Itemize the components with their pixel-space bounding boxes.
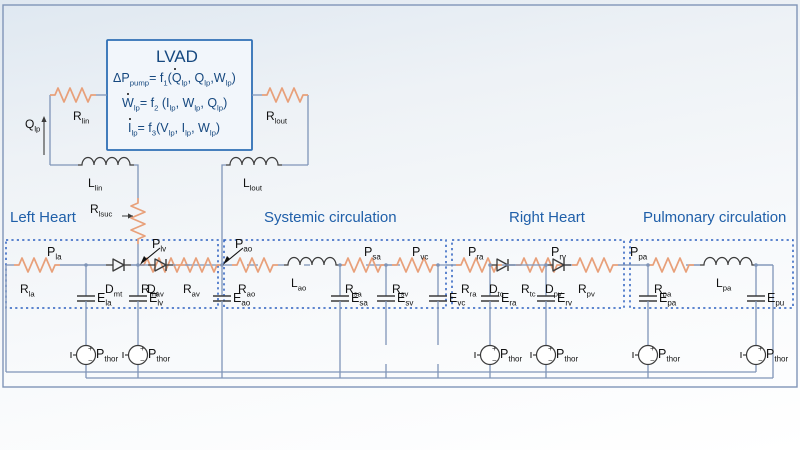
eao-sub: ao xyxy=(241,299,250,308)
resistor-rao xyxy=(232,258,278,272)
polarity-plus-1: + xyxy=(88,345,93,353)
label-pra: Pra xyxy=(468,246,483,262)
label-pla: Pla xyxy=(47,246,62,262)
plus-5: + xyxy=(650,344,655,353)
plus-1: + xyxy=(88,344,93,353)
lpa-base: L xyxy=(716,276,723,290)
qlp-sub: lp xyxy=(34,124,40,133)
section-title-right-heart: Right Heart xyxy=(509,210,585,225)
llout-base: L xyxy=(243,176,250,190)
elv-sub: lv xyxy=(157,299,163,308)
label-psa: Psa xyxy=(364,246,381,262)
rlin-base: R xyxy=(73,109,82,123)
label-ela: Ela xyxy=(97,292,112,308)
pthor2-sub: thor xyxy=(156,355,170,364)
label-lpa: Lpa xyxy=(716,277,731,292)
minus-4: − xyxy=(548,356,553,365)
pthor3-sub: thor xyxy=(508,355,522,364)
rra-sub: ra xyxy=(470,289,477,298)
minus-5: − xyxy=(650,356,655,365)
label-llout: Llout xyxy=(243,177,262,192)
eq1-sub-pump: pump xyxy=(130,79,149,88)
rpv-base: R xyxy=(578,282,587,296)
label-epa: Epa xyxy=(659,292,676,308)
section-label-systemic: Systemic circulation xyxy=(264,209,397,226)
plus-6: + xyxy=(758,344,763,353)
inductor-llout xyxy=(226,158,282,166)
label-pthor-6: Pthor xyxy=(766,348,788,364)
psa-sub: sa xyxy=(372,253,380,262)
polarity-plus-5: + xyxy=(650,345,655,353)
eq2-arg3: , Q xyxy=(200,96,217,110)
lvad-equation-2: Wlp= f2 (Ilp, Wlp, Qlp) xyxy=(122,97,227,112)
rtc-sub: tc xyxy=(530,289,536,298)
ppa-sub: pa xyxy=(638,253,647,262)
pthor1-sub: thor xyxy=(104,355,118,364)
label-erv: Erv xyxy=(557,292,572,308)
eq1-arg2: , Q xyxy=(188,71,205,85)
label-rpv: Rpv xyxy=(578,283,595,298)
pla-sub: la xyxy=(55,253,61,262)
eq1-argopen: (Q xyxy=(168,72,182,85)
rlin-sub: lin xyxy=(82,116,90,125)
eq1-f: = f xyxy=(149,71,163,85)
qlp-base: Q xyxy=(25,117,34,131)
eq3-i: I xyxy=(128,122,131,135)
label-rla: Rla xyxy=(20,283,35,298)
polarity-plus-2: + xyxy=(140,345,145,353)
polarity-plus-3: + xyxy=(492,345,497,353)
section-label-right-heart: Right Heart xyxy=(509,209,585,226)
eq1-p: P xyxy=(121,71,129,85)
label-llin: Llin xyxy=(88,177,102,192)
label-elv: Elv xyxy=(149,292,163,308)
label-plv: Plv xyxy=(152,238,166,254)
label-era: Era xyxy=(501,292,516,308)
label-pao: Pao xyxy=(235,238,252,254)
qlp-arrow-head xyxy=(41,116,46,122)
dmt-sub: mt xyxy=(114,289,123,298)
label-rlsuc: Rlsuc xyxy=(90,203,112,218)
evc-sub: vc xyxy=(457,299,465,308)
rlout-base: R xyxy=(266,109,275,123)
polarity-minus-3: − xyxy=(492,357,497,365)
minus-2: − xyxy=(140,356,145,365)
llin-base: L xyxy=(88,176,95,190)
eq1-argclose: ) xyxy=(232,71,236,85)
llin-sub: lin xyxy=(95,183,103,192)
lao-base: L xyxy=(291,276,298,290)
resistor-rpv xyxy=(572,258,618,272)
label-pvc: Pvc xyxy=(412,246,428,262)
epu-sub: pu xyxy=(775,299,784,308)
label-pthor-4: Pthor xyxy=(556,348,578,364)
pthor6-sub: thor xyxy=(774,355,788,364)
resistor-rlin xyxy=(50,88,96,102)
dpv-base: D xyxy=(545,282,554,296)
polarity-minus-4: − xyxy=(548,357,553,365)
rpv-sub: pv xyxy=(587,289,595,298)
inductor-llin xyxy=(78,158,134,166)
label-lao: Lao xyxy=(291,277,306,292)
minus-6: − xyxy=(758,356,763,365)
eq3-arg3: , W xyxy=(191,121,210,135)
pthor5-sub: thor xyxy=(666,355,680,364)
eq3-arg1: (V xyxy=(156,121,169,135)
label-rlin: Rlin xyxy=(73,110,89,125)
epa-sub: pa xyxy=(667,299,676,308)
label-evc: Evc xyxy=(449,292,465,308)
dtc-base: D xyxy=(489,282,498,296)
rlout-sub: lout xyxy=(275,116,287,125)
ela-sub: la xyxy=(105,299,111,308)
label-pthor-1: Pthor xyxy=(96,348,118,364)
plus-2: + xyxy=(140,344,145,353)
label-ppa: Ppa xyxy=(630,246,647,262)
lvad-equation-1: ΔPpump= f1(Qlp, Qlp,Wlp) xyxy=(113,72,236,87)
lvad-equation-3: Ilp= f3(Vlp, Ilp, Wlp) xyxy=(128,122,220,137)
eq2-f: = f xyxy=(140,96,154,110)
inductor-lao xyxy=(284,258,340,266)
polarity-plus-6: + xyxy=(758,345,763,353)
rav-sub: av xyxy=(192,289,200,298)
resistor-rlsuc xyxy=(131,198,145,244)
rlsuc-base: R xyxy=(90,202,99,216)
plus-3: + xyxy=(492,344,497,353)
lower-branches xyxy=(86,301,756,378)
diagram-canvas: LVAD ΔPpump= f1(Qlp, Qlp,Wlp) Wlp= f2 (I… xyxy=(0,0,800,450)
label-rtc: Rtc xyxy=(521,283,536,298)
llout-sub: lout xyxy=(250,183,262,192)
label-qlp: Qlp xyxy=(25,118,40,133)
pvc-sub: vc xyxy=(420,253,428,262)
label-pthor-2: Pthor xyxy=(148,348,170,364)
diode-dmt xyxy=(106,259,131,271)
eq3-arg2: , I xyxy=(175,121,185,135)
era-sub: ra xyxy=(509,299,516,308)
plv-sub: lv xyxy=(160,245,166,254)
rtc-base: R xyxy=(521,282,530,296)
eq1-arg3: ,W xyxy=(210,71,225,85)
label-rav: Rav xyxy=(183,283,200,298)
label-epu: Epu xyxy=(767,292,784,308)
label-prv: Prv xyxy=(551,246,566,262)
eq2-w: W xyxy=(122,97,134,110)
section-title-pulmonary: Pulmonary circulation xyxy=(643,210,786,225)
prv-sub: rv xyxy=(559,253,566,262)
pthor4-sub: thor xyxy=(564,355,578,364)
polarity-minus-5: − xyxy=(650,357,655,365)
rlsuc-sub: lsuc xyxy=(99,209,113,218)
inductor-lpa xyxy=(700,258,756,266)
eq2-argclose: ) xyxy=(223,96,227,110)
rla-base: R xyxy=(20,282,29,296)
polarity-minus-6: − xyxy=(758,357,763,365)
label-eao: Eao xyxy=(233,292,250,308)
rla-sub: la xyxy=(29,289,35,298)
erv-sub: rv xyxy=(565,299,572,308)
pra-sub: ra xyxy=(476,253,483,262)
polarity-minus-1: − xyxy=(88,357,93,365)
pao-sub: ao xyxy=(243,245,252,254)
label-esa: Esa xyxy=(351,292,368,308)
rav-base: R xyxy=(183,282,192,296)
minus-3: − xyxy=(492,356,497,365)
eq3-f: = f xyxy=(138,121,152,135)
label-rlout: Rlout xyxy=(266,110,287,125)
eq3-argclose: ) xyxy=(216,121,220,135)
plus-4: + xyxy=(548,344,553,353)
minus-1: − xyxy=(88,356,93,365)
label-pthor-3: Pthor xyxy=(500,348,522,364)
lpa-sub: pa xyxy=(723,283,732,292)
lvad-title: LVAD xyxy=(156,48,198,65)
label-esv: Esv xyxy=(397,292,413,308)
polarity-plus-4: + xyxy=(548,345,553,353)
polarity-minus-2: − xyxy=(140,357,145,365)
label-pthor-5: Pthor xyxy=(658,348,680,364)
eq2-arg1: (I xyxy=(158,96,169,110)
eq2-arg2: , W xyxy=(176,96,195,110)
section-title-left-heart: Left Heart xyxy=(10,210,76,225)
lao-sub: ao xyxy=(298,283,307,292)
section-label-pulmonary: Pulmonary circulation xyxy=(643,209,786,226)
resistor-rlout xyxy=(262,88,308,102)
esv-sub: sv xyxy=(405,299,413,308)
section-label-left-heart: Left Heart xyxy=(10,209,76,226)
esa-sub: sa xyxy=(359,299,367,308)
section-title-systemic: Systemic circulation xyxy=(264,210,397,225)
